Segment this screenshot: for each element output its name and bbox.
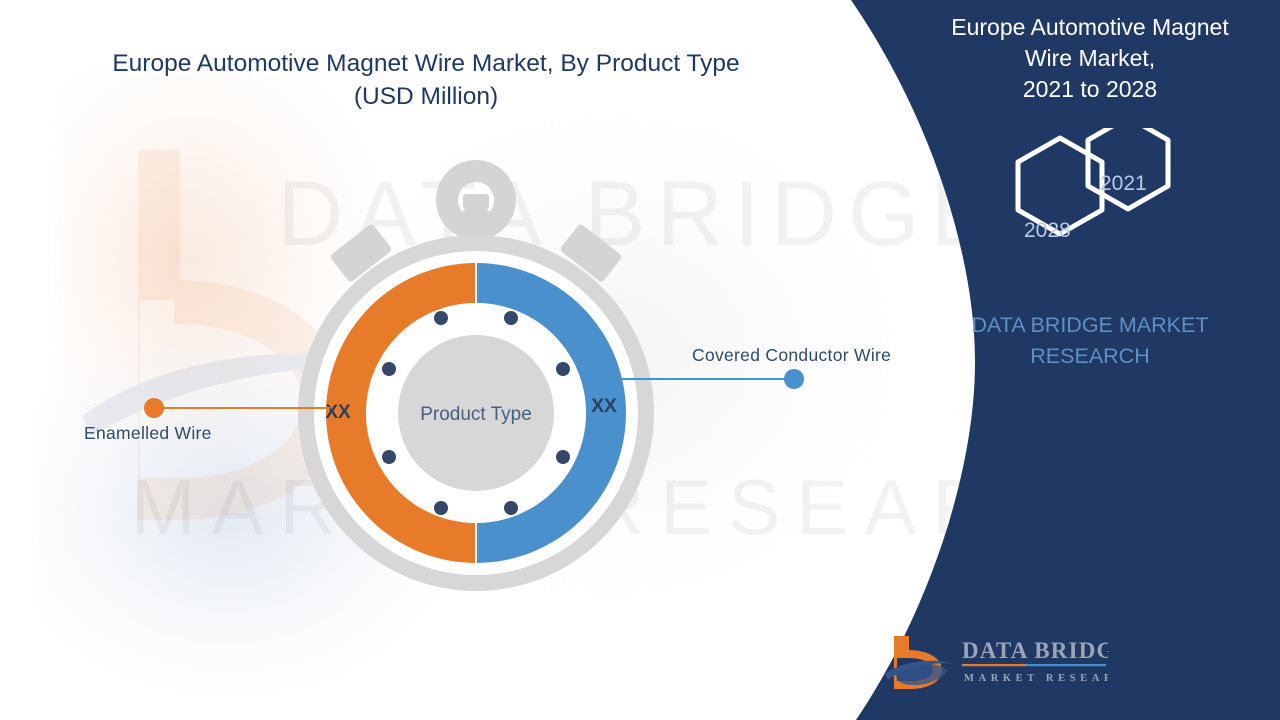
panel-title-line2: Wire Market,: [900, 43, 1280, 74]
callout-line-covered-conductor-wire: [612, 378, 794, 380]
dbmr-logo-mark-icon: [885, 636, 954, 689]
chart-title: Europe Automotive Magnet Wire Market, By…: [96, 48, 756, 113]
panel-content: Europe Automotive Magnet Wire Market, 20…: [900, 0, 1280, 720]
callout-dot-enamelled-wire[interactable]: [144, 398, 164, 418]
panel-brand-line1: DATA BRIDGE MARKET: [900, 310, 1280, 341]
segment-value-enamelled-wire: XX: [325, 402, 351, 423]
callout-dot-covered-conductor-wire[interactable]: [784, 369, 804, 389]
hexagon-label-2021: 2021: [1100, 172, 1147, 196]
panel-brand-line2: RESEARCH: [900, 341, 1280, 372]
panel-title-line3: 2021 to 2028: [900, 74, 1280, 105]
donut-center-label: Product Type: [420, 404, 532, 425]
callout-label-enamelled-wire: Enamelled Wire: [84, 423, 212, 444]
stopwatch-donut-chart: Product Type XX XX: [276, 150, 676, 600]
hexagon-label-2028: 2028: [1024, 219, 1071, 243]
dbmr-logo-name-top: DATA BRIDGE: [962, 638, 1108, 663]
dbmr-logo-name-bottom: MARKET RESEARCH: [964, 673, 1108, 684]
panel-title-line1: Europe Automotive Magnet: [900, 12, 1280, 43]
infographic-canvas: DATA BRIDGE MARKET RESEARCH Europe Autom…: [0, 0, 1280, 720]
chart-title-line2: (USD Million): [96, 81, 756, 114]
chart-title-line1: Europe Automotive Magnet Wire Market, By…: [96, 48, 756, 81]
callout-label-covered-conductor-wire: Covered Conductor Wire: [692, 345, 891, 366]
panel-brand-text: DATA BRIDGE MARKET RESEARCH: [900, 310, 1280, 371]
year-hexagons: [900, 128, 1280, 268]
callout-line-enamelled-wire: [155, 407, 330, 409]
panel-title: Europe Automotive Magnet Wire Market, 20…: [900, 12, 1280, 104]
segment-value-covered-conductor-wire: XX: [591, 396, 617, 417]
dbmr-logo: DATA BRIDGE MARKET RESEARCH: [884, 628, 1108, 694]
